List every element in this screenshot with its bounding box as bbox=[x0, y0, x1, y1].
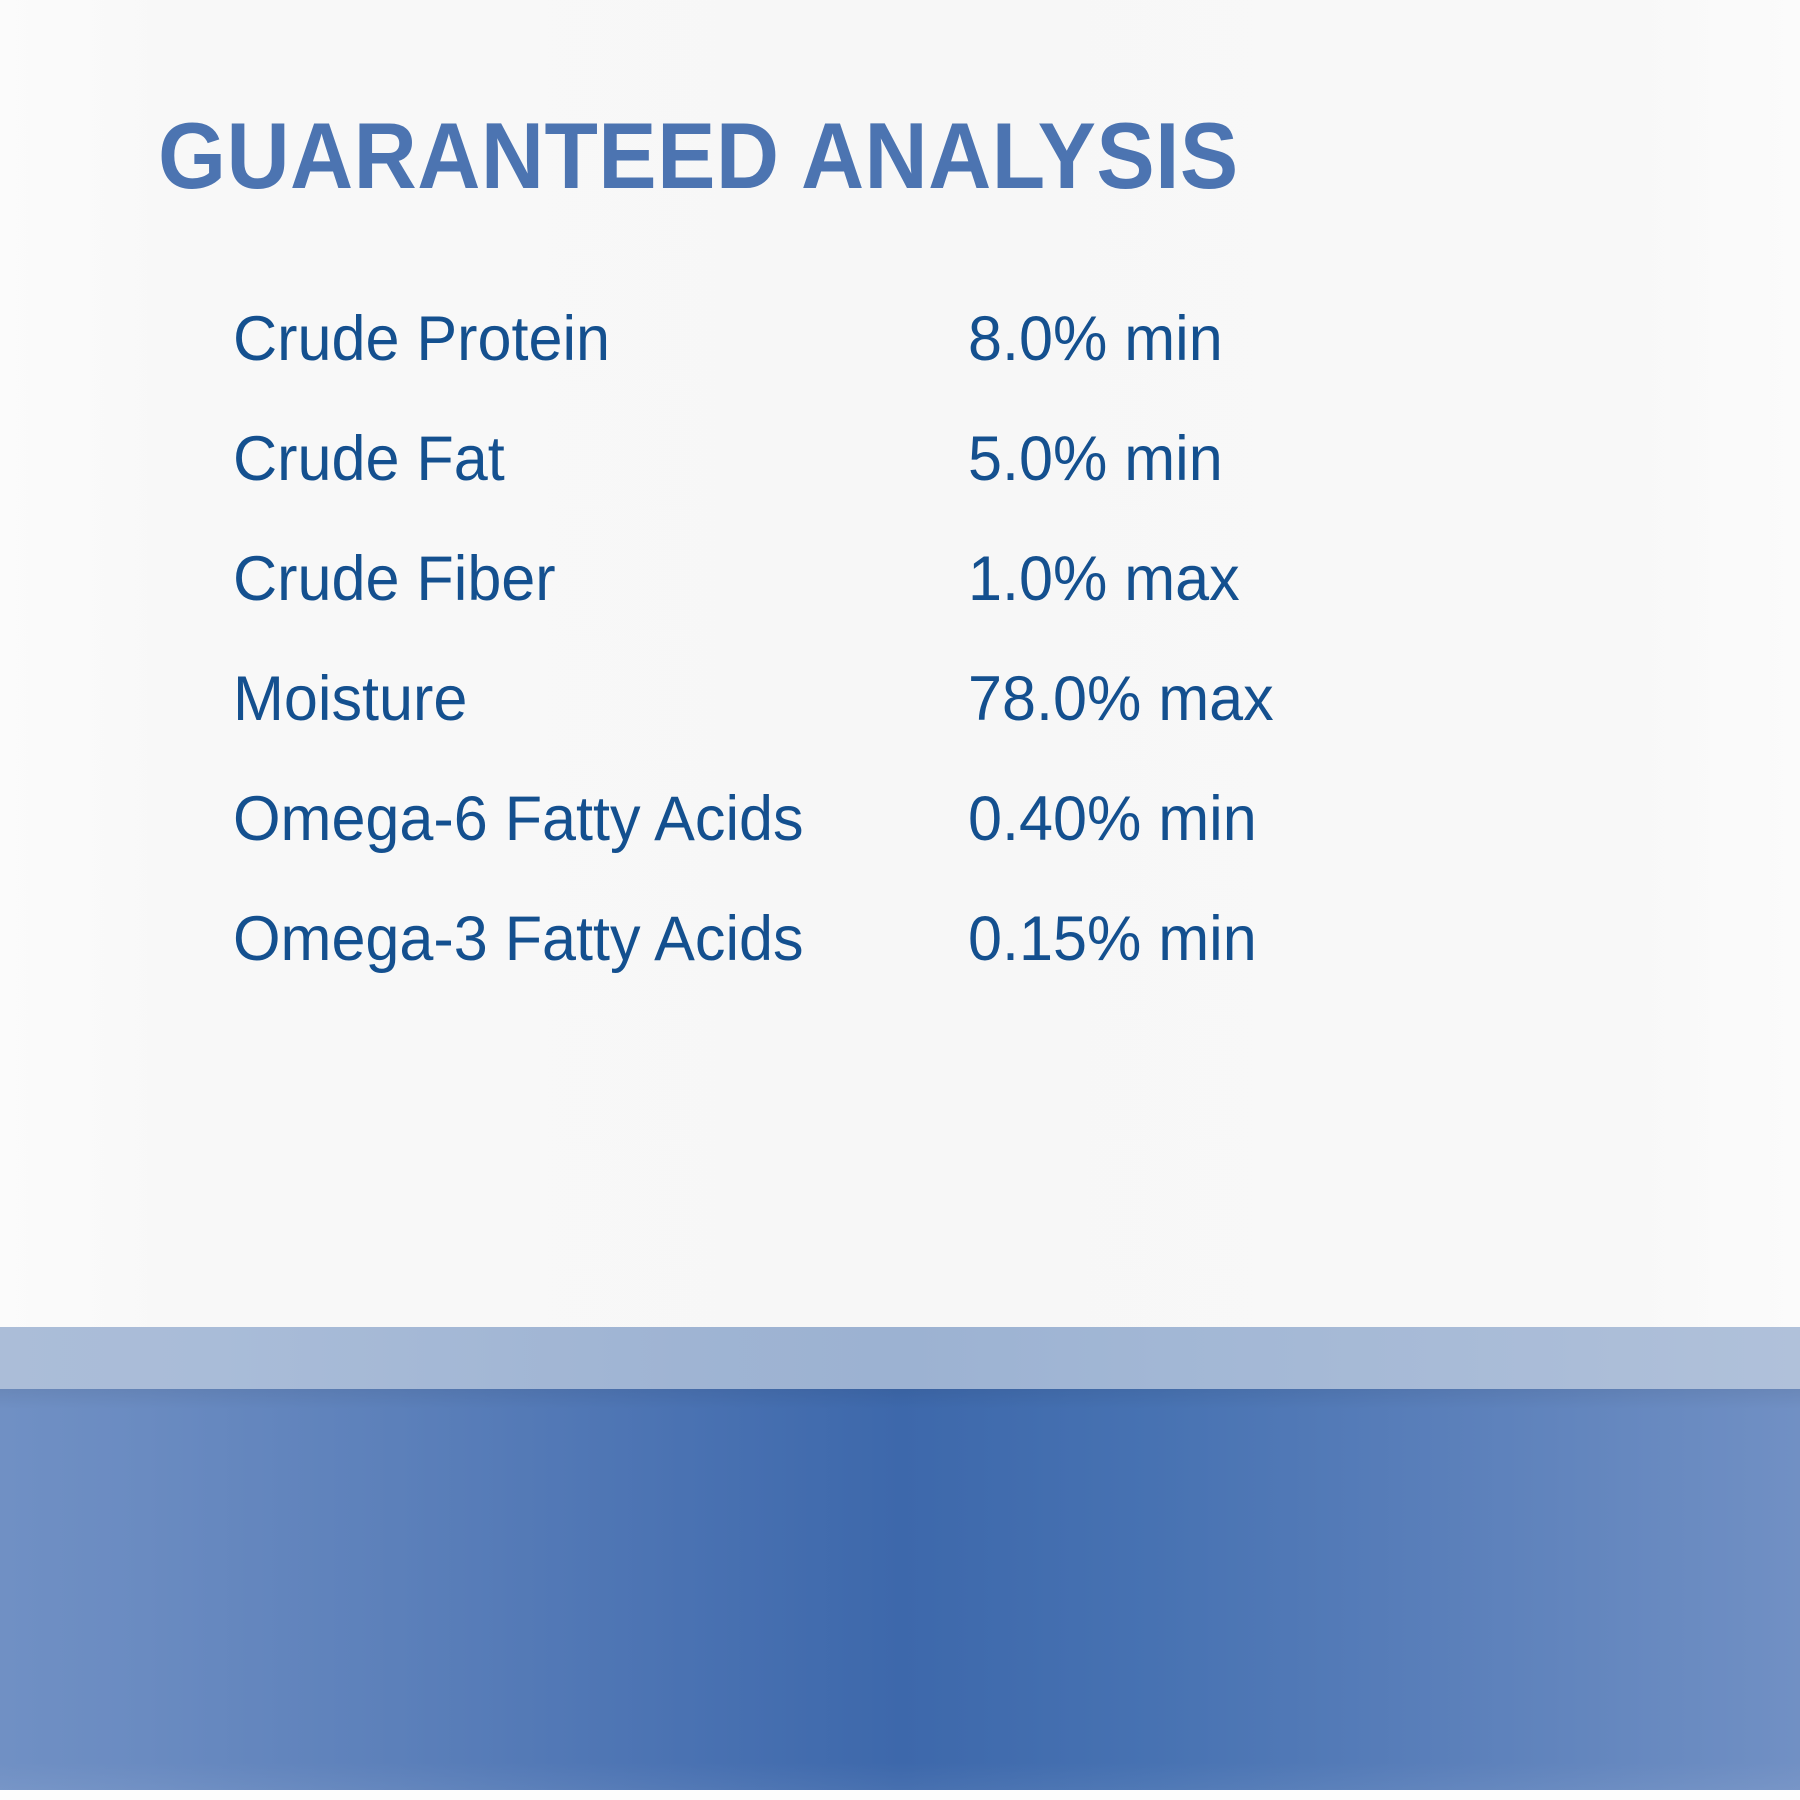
nutrient-label: Crude Fat bbox=[233, 409, 505, 509]
content-area: GUARANTEED ANALYSIS Crude Protein 8.0% m… bbox=[0, 0, 1800, 1327]
table-row: Crude Protein 8.0% min bbox=[0, 289, 1800, 409]
nutrient-label: Crude Protein bbox=[233, 289, 610, 389]
nutrient-label: Crude Fiber bbox=[233, 529, 556, 629]
footer-bottom-strip bbox=[0, 1790, 1800, 1800]
nutrient-label: Omega-6 Fatty Acids bbox=[233, 769, 804, 869]
table-row: Crude Fat 5.0% min bbox=[0, 409, 1800, 529]
footer-light-band bbox=[0, 1327, 1800, 1389]
nutrient-value: 0.40% min bbox=[968, 769, 1257, 869]
nutrient-value: 8.0% min bbox=[968, 289, 1223, 389]
nutrient-label: Omega-3 Fatty Acids bbox=[233, 889, 804, 989]
guaranteed-analysis-panel: GUARANTEED ANALYSIS Crude Protein 8.0% m… bbox=[0, 0, 1800, 1800]
nutrient-label: Moisture bbox=[233, 649, 467, 749]
table-row: Omega-6 Fatty Acids 0.40% min bbox=[0, 769, 1800, 889]
page-title: GUARANTEED ANALYSIS bbox=[158, 106, 1239, 206]
table-row: Moisture 78.0% max bbox=[0, 649, 1800, 769]
nutrient-value: 78.0% max bbox=[968, 649, 1274, 749]
guaranteed-analysis-table: Crude Protein 8.0% min Crude Fat 5.0% mi… bbox=[0, 289, 1800, 1009]
nutrient-value: 1.0% max bbox=[968, 529, 1240, 629]
nutrient-value: 5.0% min bbox=[968, 409, 1223, 509]
footer-dark-band bbox=[0, 1389, 1800, 1790]
nutrient-value: 0.15% min bbox=[968, 889, 1257, 989]
table-row: Crude Fiber 1.0% max bbox=[0, 529, 1800, 649]
table-row: Omega-3 Fatty Acids 0.15% min bbox=[0, 889, 1800, 1009]
